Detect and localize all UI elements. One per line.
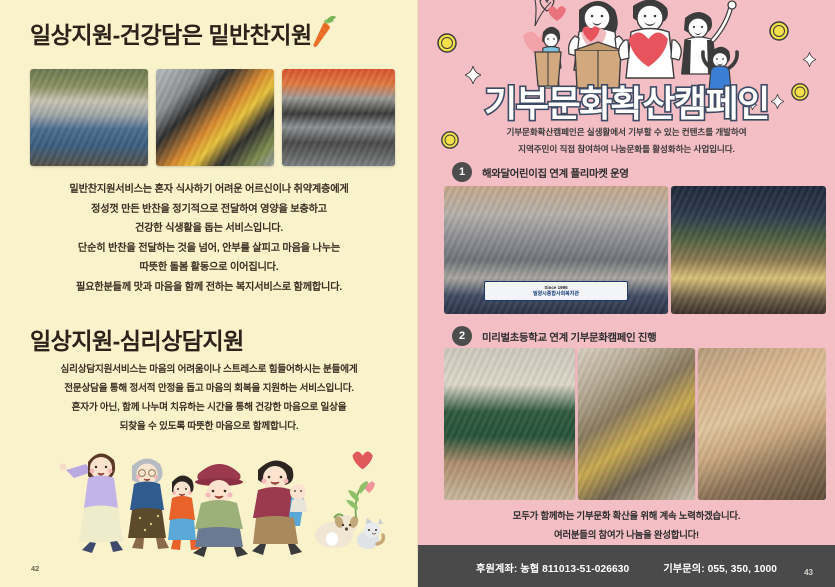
photo-donated-goods [578,348,695,500]
welfare-center-banner: Since 1995 밀양시종합사회복지관 [484,281,627,301]
coin-icon [768,20,790,42]
photo-lunchbox [156,69,274,166]
page-number-right: 43 [804,568,813,577]
subtitle-line: 기부문화확산캠페인은 실생활에서 기부할 수 있는 컨텐츠를 개발하여 [418,124,835,141]
photo-donation-box [698,348,826,500]
page-title-meal-support: 일상지원-건강담은 밑반찬지원 [30,16,312,50]
section-header-2: 2 미리벌초등학교 연계 기부문화캠페인 진행 [452,326,656,346]
section-header-1: 1 해와달어린이집 연계 플리마켓 운영 [452,162,629,182]
photo-night-market [671,186,826,314]
body-line: 혼자가 아닌, 함께 나누며 치유하는 시간을 통해 건강한 마음으로 일상을 [0,398,418,417]
carrot-icon [303,14,343,50]
body-line: 단순히 반찬을 전달하는 것을 넘어, 안부를 살피고 마음을 나누는 [0,239,418,259]
campaign-subtitle: 기부문화확산캠페인은 실생활에서 기부할 수 있는 컨텐츠를 개발하여 지역주민… [418,124,835,158]
body-line: 필요한분들께 맛과 마음을 함께 전하는 복지서비스로 함께합니다. [0,278,418,298]
left-page: 일상지원-건강담은 밑반찬지원 밑반찬지원서비스는 혼자 [0,0,418,587]
body-line: 따뜻한 돌봄 활동으로 이어집니다. [0,258,418,278]
section-label: 미리벌초등학교 연계 기부문화캠페인 진행 [482,329,656,344]
sparkle-icon [803,52,816,67]
family-walking-illustration [36,432,386,557]
section-1-photo-strip: Since 1995 밀양시종합사회복지관 [444,186,826,314]
coin-icon [436,32,458,54]
footer-bar: 후원계좌: 농협 811013-51-026630 기부문의: 055, 350… [418,545,835,587]
photo-christmas-tree [444,348,575,500]
donation-inquiry: 기부문의: 055, 350, 1000 [663,560,777,575]
section-label: 해와달어린이집 연계 플리마켓 운영 [482,165,629,180]
meal-support-photo-row [30,69,395,166]
closing-line: 모두가 함께하는 기부문화 확산을 위해 계속 노력하겠습니다. [418,506,835,525]
closing-message: 모두가 함께하는 기부문화 확산을 위해 계속 노력하겠습니다. 여러분들의 참… [418,506,835,544]
section-2-photo-strip [444,348,826,500]
page-title-counseling-support: 일상지원-심리상담지원 [30,322,244,356]
subtitle-line: 지역주민이 직접 참여하여 나눔문화를 활성화하는 사업입니다. [418,141,835,158]
sponsor-account: 후원계좌: 농협 811013-51-026630 [476,560,629,575]
banner-org: 밀양시종합사회복지관 [533,291,579,297]
campaign-title: 기부문화확산캠페인 [418,75,835,127]
body-line: 건강한 식생활을 돕는 서비스입니다. [0,219,418,239]
body-line: 정성껏 만든 반찬을 정기적으로 전달하여 영양을 보충하고 [0,200,418,220]
photo-group-banner: Since 1995 밀양시종합사회복지관 [444,186,668,314]
photo-cart [282,69,395,166]
body-line: 밑반찬지원서비스는 혼자 식사하기 어려운 어르신이나 취약계층에게 [0,180,418,200]
brochure-spread: 일상지원-건강담은 밑반찬지원 밑반찬지원서비스는 혼자 [0,0,835,587]
photo-delivery [30,69,148,166]
meal-support-body: 밑반찬지원서비스는 혼자 식사하기 어려운 어르신이나 취약계층에게 정성껏 만… [0,180,418,297]
section-number-badge: 1 [452,162,472,182]
counseling-support-body: 심리상담지원서비스는 마음의 어려움이나 스트레스로 힘들어하시는 분들에게 전… [0,360,418,436]
closing-line: 여러분들의 참여가 나눔을 완성합니다! [418,525,835,544]
section-number-badge: 2 [452,326,472,346]
page-number-left: 42 [31,564,39,573]
body-line: 전문상담을 통해 정서적 안정을 돕고 마음의 회복을 지원하는 서비스입니다. [0,379,418,398]
body-line: 심리상담지원서비스는 마음의 어려움이나 스트레스로 힘들어하시는 분들에게 [0,360,418,379]
